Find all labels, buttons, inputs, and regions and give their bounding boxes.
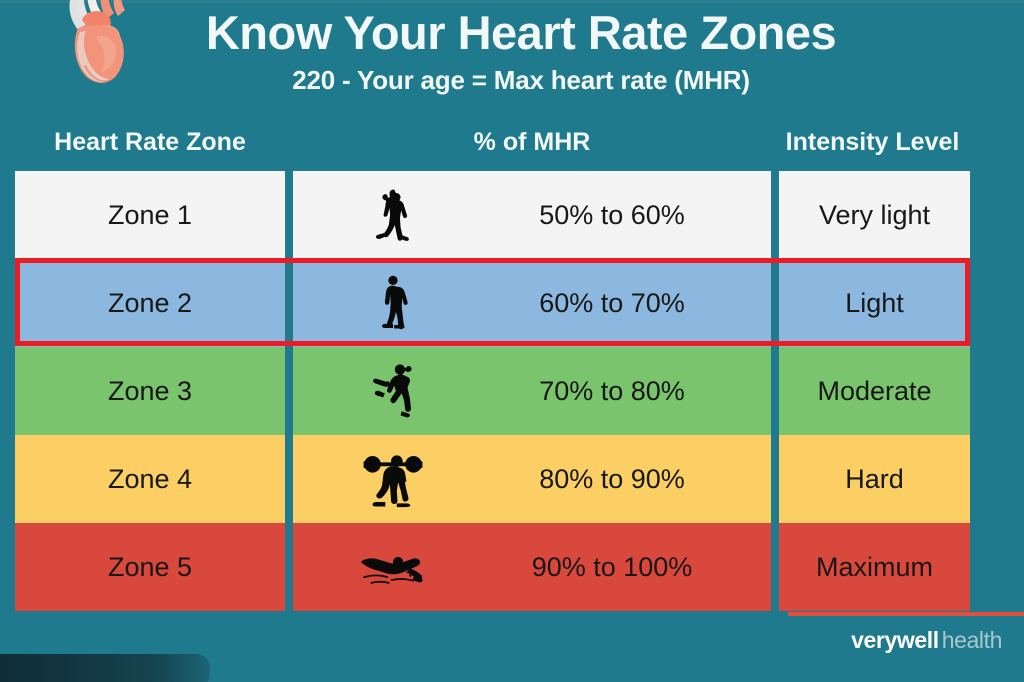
mhr-range-text: 50% to 60% (453, 171, 771, 259)
column-header-row: Heart Rate Zone % of MHR Intensity Level (15, 128, 970, 166)
swimming-icon (333, 523, 453, 611)
table-row: Zone 590% to 100%Maximum (15, 523, 970, 611)
table-row: Zone 260% to 70%Light (15, 259, 970, 347)
heart-rate-zone-table: Zone 150% to 60%Very lightZone 260% to 7… (15, 171, 970, 611)
cell-intensity-level: Light (779, 259, 970, 347)
mhr-range-text: 90% to 100% (453, 523, 771, 611)
logo-primary-text: verywell (851, 627, 939, 653)
video-player-chrome[interactable] (0, 654, 210, 682)
column-header-heart-rate-zone: Heart Rate Zone (15, 128, 285, 157)
cell-zone-name: Zone 5 (15, 523, 285, 611)
column-header-percent-of-mhr: % of MHR (293, 128, 771, 157)
column-header-intensity-level: Intensity Level (775, 128, 970, 157)
mhr-range-text: 80% to 90% (453, 435, 771, 523)
table-row: Zone 370% to 80%Moderate (15, 347, 970, 435)
mhr-range-text: 60% to 70% (453, 259, 771, 347)
brisk-walking-man-icon (333, 259, 453, 347)
cell-zone-name: Zone 1 (15, 171, 285, 259)
top-edge-strip (0, 0, 1024, 3)
cell-intensity-level: Maximum (779, 523, 970, 611)
cell-intensity-level: Very light (779, 171, 970, 259)
cell-percent-of-mhr: 60% to 70% (293, 259, 771, 347)
weightlifting-squat-icon (333, 435, 453, 523)
mhr-range-text: 70% to 80% (453, 347, 771, 435)
cell-percent-of-mhr: 50% to 60% (293, 171, 771, 259)
title-block: Know Your Heart Rate Zones 220 - Your ag… (150, 8, 892, 96)
table-row: Zone 480% to 90%Hard (15, 435, 970, 523)
cell-percent-of-mhr: 70% to 80% (293, 347, 771, 435)
page-title: Know Your Heart Rate Zones (150, 8, 892, 57)
cell-percent-of-mhr: 90% to 100% (293, 523, 771, 611)
running-woman-icon (333, 347, 453, 435)
cell-intensity-level: Hard (779, 435, 970, 523)
table-row: Zone 150% to 60%Very light (15, 171, 970, 259)
logo-secondary-text: health (942, 627, 1002, 653)
verywell-health-logo: verywellhealth (851, 627, 1002, 654)
page-subtitle: 220 - Your age = Max heart rate (MHR) (150, 65, 892, 96)
cell-percent-of-mhr: 80% to 90% (293, 435, 771, 523)
anatomical-heart-icon (40, 0, 148, 100)
cell-zone-name: Zone 2 (15, 259, 285, 347)
walking-woman-icon (333, 171, 453, 259)
cell-zone-name: Zone 3 (15, 347, 285, 435)
infographic-canvas: Know Your Heart Rate Zones 220 - Your ag… (0, 0, 1024, 682)
cell-zone-name: Zone 4 (15, 435, 285, 523)
accent-strip (788, 612, 1024, 616)
cell-intensity-level: Moderate (779, 347, 970, 435)
